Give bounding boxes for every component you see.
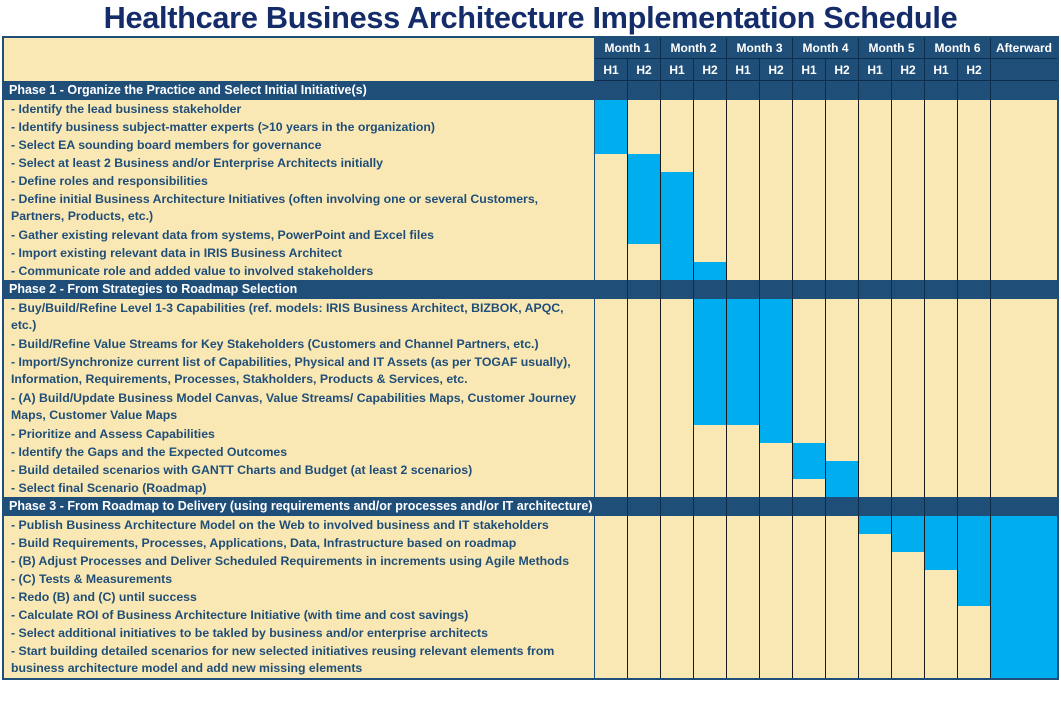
phase-band-cell (661, 81, 694, 100)
gantt-empty-cell (826, 172, 859, 190)
gantt-bar-segment (892, 516, 925, 534)
gantt-empty-cell (958, 461, 991, 479)
gantt-empty-cell (925, 335, 958, 353)
gantt-empty-cell (826, 552, 859, 570)
half-header-2: H1 (661, 59, 694, 81)
task-label: - Publish Business Architecture Model on… (4, 516, 595, 534)
gantt-empty-cell (793, 588, 826, 606)
gantt-empty-cell (661, 335, 694, 353)
gantt-empty-cell (760, 552, 793, 570)
task-label: - Identify business subject-matter exper… (4, 118, 595, 136)
gantt-empty-cell (793, 353, 826, 389)
gantt-empty-cell (661, 100, 694, 118)
task-row: - (B) Adjust Processes and Deliver Sched… (4, 552, 1057, 570)
half-header-container: H1H2H1H2H1H2H1H2H1H2H1H2 (595, 59, 1057, 81)
gantt-empty-cell (925, 588, 958, 606)
task-row: - Buy/Build/Refine Level 1-3 Capabilitie… (4, 299, 1057, 335)
gantt-bar-segment (826, 461, 859, 479)
task-timeline-cells (595, 552, 1057, 570)
task-timeline-cells (595, 588, 1057, 606)
gantt-empty-cell (958, 226, 991, 244)
gantt-empty-cell (892, 190, 925, 226)
gantt-empty-cell (628, 425, 661, 443)
gantt-empty-cell (826, 606, 859, 624)
task-label: - Identify the Gaps and the Expected Out… (4, 443, 595, 461)
task-label: - Build detailed scenarios with GANTT Ch… (4, 461, 595, 479)
phase-band-cell (958, 280, 991, 299)
header-corner-blank (4, 38, 595, 59)
gantt-bar-segment (694, 389, 727, 425)
gantt-bar-segment (694, 335, 727, 353)
gantt-empty-cell (628, 299, 661, 335)
gantt-bar-segment (727, 353, 760, 389)
gantt-empty-cell (925, 118, 958, 136)
phase-band-cell (628, 81, 661, 100)
gantt-empty-cell (760, 172, 793, 190)
gantt-empty-cell (628, 262, 661, 280)
task-label: - Select additional initiatives to be ta… (4, 624, 595, 642)
gantt-empty-cell (991, 136, 1057, 154)
task-row: - Define initial Business Architecture I… (4, 190, 1057, 226)
gantt-empty-cell (859, 190, 892, 226)
gantt-empty-cell (958, 642, 991, 678)
gantt-empty-cell (661, 479, 694, 497)
gantt-empty-cell (595, 389, 628, 425)
gantt-empty-cell (793, 244, 826, 262)
gantt-bar-segment (760, 353, 793, 389)
task-timeline-cells (595, 118, 1057, 136)
phase-header-row-3: Phase 3 - From Roadmap to Delivery (usin… (4, 497, 1057, 516)
half-header-6: H1 (793, 59, 826, 81)
gantt-empty-cell (826, 443, 859, 461)
task-row: - Select final Scenario (Roadmap) (4, 479, 1057, 497)
gantt-empty-cell (925, 244, 958, 262)
gantt-empty-cell (694, 244, 727, 262)
gantt-empty-cell (859, 154, 892, 172)
gantt-empty-cell (925, 642, 958, 678)
gantt-empty-cell (991, 353, 1057, 389)
gantt-empty-cell (628, 443, 661, 461)
gantt-empty-cell (793, 100, 826, 118)
task-label: - (C) Tests & Measurements (4, 570, 595, 588)
gantt-empty-cell (595, 461, 628, 479)
gantt-empty-cell (892, 389, 925, 425)
gantt-empty-cell (958, 118, 991, 136)
task-timeline-cells (595, 642, 1057, 678)
gantt-empty-cell (727, 100, 760, 118)
gantt-empty-cell (793, 154, 826, 172)
task-label: - Redo (B) and (C) until success (4, 588, 595, 606)
gantt-empty-cell (661, 353, 694, 389)
gantt-bar-segment (892, 534, 925, 552)
task-label: - Prioritize and Assess Capabilities (4, 425, 595, 443)
gantt-empty-cell (694, 100, 727, 118)
gantt-empty-cell (661, 118, 694, 136)
schedule-table: Month 1Month 2Month 3Month 4Month 5Month… (2, 36, 1059, 680)
gantt-empty-cell (760, 443, 793, 461)
gantt-empty-cell (793, 516, 826, 534)
task-timeline-cells (595, 335, 1057, 353)
task-label: - Define initial Business Architecture I… (4, 190, 595, 226)
gantt-empty-cell (958, 100, 991, 118)
task-row: - Select EA sounding board members for g… (4, 136, 1057, 154)
gantt-empty-cell (595, 425, 628, 443)
gantt-bar-segment (958, 552, 991, 570)
gantt-empty-cell (826, 136, 859, 154)
gantt-empty-cell (793, 190, 826, 226)
gantt-empty-cell (958, 262, 991, 280)
task-timeline-cells (595, 425, 1057, 443)
gantt-empty-cell (628, 606, 661, 624)
gantt-empty-cell (892, 606, 925, 624)
gantt-bar-segment (727, 335, 760, 353)
task-row: - Select additional initiatives to be ta… (4, 624, 1057, 642)
task-label: - Define roles and responsibilities (4, 172, 595, 190)
gantt-empty-cell (793, 642, 826, 678)
gantt-empty-cell (958, 136, 991, 154)
gantt-empty-cell (595, 516, 628, 534)
gantt-empty-cell (958, 353, 991, 389)
phase-band-grid-1 (595, 81, 1057, 100)
gantt-empty-cell (925, 425, 958, 443)
task-label: - Build/Refine Value Streams for Key Sta… (4, 335, 595, 353)
gantt-empty-cell (760, 190, 793, 226)
gantt-empty-cell (925, 624, 958, 642)
gantt-empty-cell (628, 516, 661, 534)
task-timeline-cells (595, 244, 1057, 262)
page-title: Healthcare Business Architecture Impleme… (5, 0, 1055, 36)
phase-header-row-1: Phase 1 - Organize the Practice and Sele… (4, 81, 1057, 100)
gantt-empty-cell (727, 624, 760, 642)
task-timeline-cells (595, 570, 1057, 588)
phase-band-cell (727, 280, 760, 299)
gantt-empty-cell (727, 244, 760, 262)
task-row: - Import existing relevant data in IRIS … (4, 244, 1057, 262)
phase-title-1: Phase 1 - Organize the Practice and Sele… (4, 81, 595, 100)
half-header-11: H2 (958, 59, 991, 81)
gantt-empty-cell (826, 425, 859, 443)
phase-band-cell (661, 280, 694, 299)
gantt-empty-cell (826, 244, 859, 262)
task-row: - Identify business subject-matter exper… (4, 118, 1057, 136)
gantt-empty-cell (727, 154, 760, 172)
task-timeline-cells (595, 226, 1057, 244)
task-row: - Prioritize and Assess Capabilities (4, 425, 1057, 443)
task-row: - Gather existing relevant data from sys… (4, 226, 1057, 244)
gantt-empty-cell (628, 552, 661, 570)
gantt-empty-cell (661, 588, 694, 606)
gantt-empty-cell (694, 570, 727, 588)
gantt-empty-cell (727, 136, 760, 154)
gantt-empty-cell (859, 552, 892, 570)
phase-band-cell (727, 81, 760, 100)
task-row: - (C) Tests & Measurements (4, 570, 1057, 588)
gantt-empty-cell (727, 479, 760, 497)
gantt-empty-cell (826, 389, 859, 425)
gantt-empty-cell (892, 624, 925, 642)
gantt-empty-cell (661, 389, 694, 425)
gantt-chart-page: Healthcare Business Architecture Impleme… (0, 0, 1061, 705)
task-label: - Import existing relevant data in IRIS … (4, 244, 595, 262)
gantt-empty-cell (760, 226, 793, 244)
phase-band-cell (661, 497, 694, 516)
gantt-empty-cell (727, 262, 760, 280)
gantt-empty-cell (727, 606, 760, 624)
gantt-empty-cell (628, 353, 661, 389)
phase-band-cell (925, 497, 958, 516)
gantt-bar-segment (694, 299, 727, 335)
gantt-bar-segment (628, 154, 661, 172)
phase-band-cell (958, 497, 991, 516)
phase-band-cell (859, 81, 892, 100)
gantt-empty-cell (628, 624, 661, 642)
gantt-empty-cell (925, 461, 958, 479)
gantt-empty-cell (991, 299, 1057, 335)
gantt-empty-cell (892, 461, 925, 479)
gantt-empty-cell (694, 624, 727, 642)
gantt-empty-cell (760, 588, 793, 606)
gantt-bar-segment (760, 299, 793, 335)
gantt-empty-cell (925, 190, 958, 226)
gantt-empty-cell (595, 606, 628, 624)
gantt-empty-cell (859, 642, 892, 678)
gantt-empty-cell (991, 335, 1057, 353)
task-timeline-cells (595, 154, 1057, 172)
gantt-empty-cell (892, 100, 925, 118)
phase-band-cell (595, 280, 628, 299)
gantt-empty-cell (826, 624, 859, 642)
gantt-empty-cell (760, 136, 793, 154)
task-label: - Select at least 2 Business and/or Ente… (4, 154, 595, 172)
phase-band-cell (628, 280, 661, 299)
gantt-bar-segment (793, 461, 826, 479)
gantt-empty-cell (991, 389, 1057, 425)
gantt-empty-cell (760, 154, 793, 172)
gantt-empty-cell (826, 299, 859, 335)
task-timeline-cells (595, 516, 1057, 534)
gantt-empty-cell (727, 642, 760, 678)
phase-band-cell (826, 497, 859, 516)
gantt-empty-cell (595, 262, 628, 280)
gantt-empty-cell (661, 516, 694, 534)
gantt-empty-cell (826, 353, 859, 389)
gantt-empty-cell (595, 190, 628, 226)
task-label: - Select EA sounding board members for g… (4, 136, 595, 154)
half-header-3: H2 (694, 59, 727, 81)
gantt-empty-cell (760, 244, 793, 262)
gantt-bar-segment (661, 226, 694, 244)
gantt-empty-cell (925, 299, 958, 335)
gantt-empty-cell (958, 479, 991, 497)
gantt-empty-cell (958, 299, 991, 335)
task-row: - Calculate ROI of Business Architecture… (4, 606, 1057, 624)
phase-band-cell (991, 81, 1057, 100)
gantt-empty-cell (694, 136, 727, 154)
task-timeline-cells (595, 262, 1057, 280)
gantt-empty-cell (661, 606, 694, 624)
gantt-bar-segment (628, 190, 661, 226)
gantt-bar-segment (991, 588, 1057, 606)
gantt-empty-cell (859, 136, 892, 154)
gantt-empty-cell (925, 172, 958, 190)
gantt-bar-segment (925, 516, 958, 534)
gantt-empty-cell (793, 534, 826, 552)
phase-band-cell (826, 280, 859, 299)
gantt-bar-segment (991, 552, 1057, 570)
gantt-empty-cell (892, 299, 925, 335)
gantt-bar-segment (595, 100, 628, 118)
gantt-bar-segment (793, 443, 826, 461)
gantt-empty-cell (859, 624, 892, 642)
task-row: - Define roles and responsibilities (4, 172, 1057, 190)
table-header-halves: H1H2H1H2H1H2H1H2H1H2H1H2 (4, 59, 1057, 81)
task-label: - Select final Scenario (Roadmap) (4, 479, 595, 497)
schedule-body: Phase 1 - Organize the Practice and Sele… (4, 81, 1057, 678)
gantt-empty-cell (892, 262, 925, 280)
gantt-empty-cell (793, 389, 826, 425)
phase-band-cell (958, 81, 991, 100)
gantt-bar-segment (991, 516, 1057, 534)
gantt-empty-cell (892, 642, 925, 678)
month-header-6: Month 6 (925, 38, 991, 59)
gantt-empty-cell (694, 642, 727, 678)
gantt-empty-cell (892, 570, 925, 588)
gantt-empty-cell (661, 136, 694, 154)
gantt-empty-cell (793, 136, 826, 154)
month-header-1: Month 1 (595, 38, 661, 59)
gantt-empty-cell (595, 624, 628, 642)
gantt-empty-cell (826, 154, 859, 172)
phase-band-cell (595, 81, 628, 100)
gantt-bar-segment (661, 190, 694, 226)
gantt-empty-cell (793, 118, 826, 136)
gantt-empty-cell (661, 642, 694, 678)
gantt-empty-cell (793, 570, 826, 588)
gantt-empty-cell (892, 136, 925, 154)
gantt-empty-cell (859, 335, 892, 353)
task-label: - (B) Adjust Processes and Deliver Sched… (4, 552, 595, 570)
gantt-empty-cell (859, 534, 892, 552)
gantt-empty-cell (760, 479, 793, 497)
gantt-empty-cell (760, 461, 793, 479)
gantt-empty-cell (925, 262, 958, 280)
phase-band-cell (793, 280, 826, 299)
task-timeline-cells (595, 136, 1057, 154)
phase-band-cell (991, 280, 1057, 299)
gantt-empty-cell (892, 244, 925, 262)
half-header-7: H2 (826, 59, 859, 81)
gantt-empty-cell (991, 443, 1057, 461)
phase-band-cell (925, 280, 958, 299)
gantt-empty-cell (826, 190, 859, 226)
gantt-empty-cell (595, 588, 628, 606)
gantt-empty-cell (793, 425, 826, 443)
gantt-empty-cell (760, 534, 793, 552)
gantt-empty-cell (760, 642, 793, 678)
gantt-empty-cell (892, 226, 925, 244)
table-header-months: Month 1Month 2Month 3Month 4Month 5Month… (4, 38, 1057, 59)
phase-band-cell (991, 497, 1057, 516)
gantt-empty-cell (694, 154, 727, 172)
gantt-empty-cell (595, 534, 628, 552)
gantt-empty-cell (793, 262, 826, 280)
gantt-empty-cell (661, 552, 694, 570)
gantt-empty-cell (991, 479, 1057, 497)
gantt-empty-cell (925, 443, 958, 461)
gantt-empty-cell (859, 244, 892, 262)
task-timeline-cells (595, 299, 1057, 335)
gantt-empty-cell (760, 262, 793, 280)
half-header-5: H2 (760, 59, 793, 81)
gantt-empty-cell (859, 299, 892, 335)
gantt-empty-cell (694, 118, 727, 136)
task-label: - Communicate role and added value to in… (4, 262, 595, 280)
phase-band-cell (760, 81, 793, 100)
phase-band-cell (925, 81, 958, 100)
gantt-empty-cell (958, 335, 991, 353)
gantt-empty-cell (859, 461, 892, 479)
phase-band-cell (892, 280, 925, 299)
phase-band-cell (694, 280, 727, 299)
half-header-10: H1 (925, 59, 958, 81)
gantt-empty-cell (628, 244, 661, 262)
phase-band-cell (892, 497, 925, 516)
gantt-empty-cell (661, 624, 694, 642)
task-row: - Communicate role and added value to in… (4, 262, 1057, 280)
gantt-empty-cell (859, 118, 892, 136)
gantt-empty-cell (793, 479, 826, 497)
gantt-empty-cell (793, 606, 826, 624)
gantt-bar-segment (661, 262, 694, 280)
gantt-empty-cell (760, 118, 793, 136)
gantt-bar-segment (661, 172, 694, 190)
phase-band-cell (694, 81, 727, 100)
gantt-empty-cell (628, 100, 661, 118)
gantt-empty-cell (991, 172, 1057, 190)
month-header-3: Month 3 (727, 38, 793, 59)
gantt-empty-cell (859, 262, 892, 280)
phase-band-cell (760, 280, 793, 299)
gantt-empty-cell (892, 335, 925, 353)
gantt-empty-cell (628, 588, 661, 606)
gantt-bar-segment (694, 262, 727, 280)
task-row: - Identify the Gaps and the Expected Out… (4, 443, 1057, 461)
phase-band-cell (793, 81, 826, 100)
task-timeline-cells (595, 443, 1057, 461)
gantt-empty-cell (859, 588, 892, 606)
gantt-empty-cell (727, 534, 760, 552)
gantt-empty-cell (628, 642, 661, 678)
gantt-empty-cell (892, 443, 925, 461)
gantt-empty-cell (793, 172, 826, 190)
gantt-empty-cell (859, 606, 892, 624)
gantt-empty-cell (892, 425, 925, 443)
gantt-empty-cell (661, 154, 694, 172)
gantt-bar-segment (859, 516, 892, 534)
month-header-5: Month 5 (859, 38, 925, 59)
task-timeline-cells (595, 624, 1057, 642)
gantt-empty-cell (727, 461, 760, 479)
gantt-empty-cell (727, 172, 760, 190)
gantt-empty-cell (991, 262, 1057, 280)
gantt-empty-cell (661, 461, 694, 479)
afterward-header-sub (991, 59, 1057, 81)
task-row: - Start building detailed scenarios for … (4, 642, 1057, 678)
gantt-empty-cell (826, 262, 859, 280)
gantt-empty-cell (760, 570, 793, 588)
phase-band-cell (628, 497, 661, 516)
gantt-empty-cell (925, 389, 958, 425)
